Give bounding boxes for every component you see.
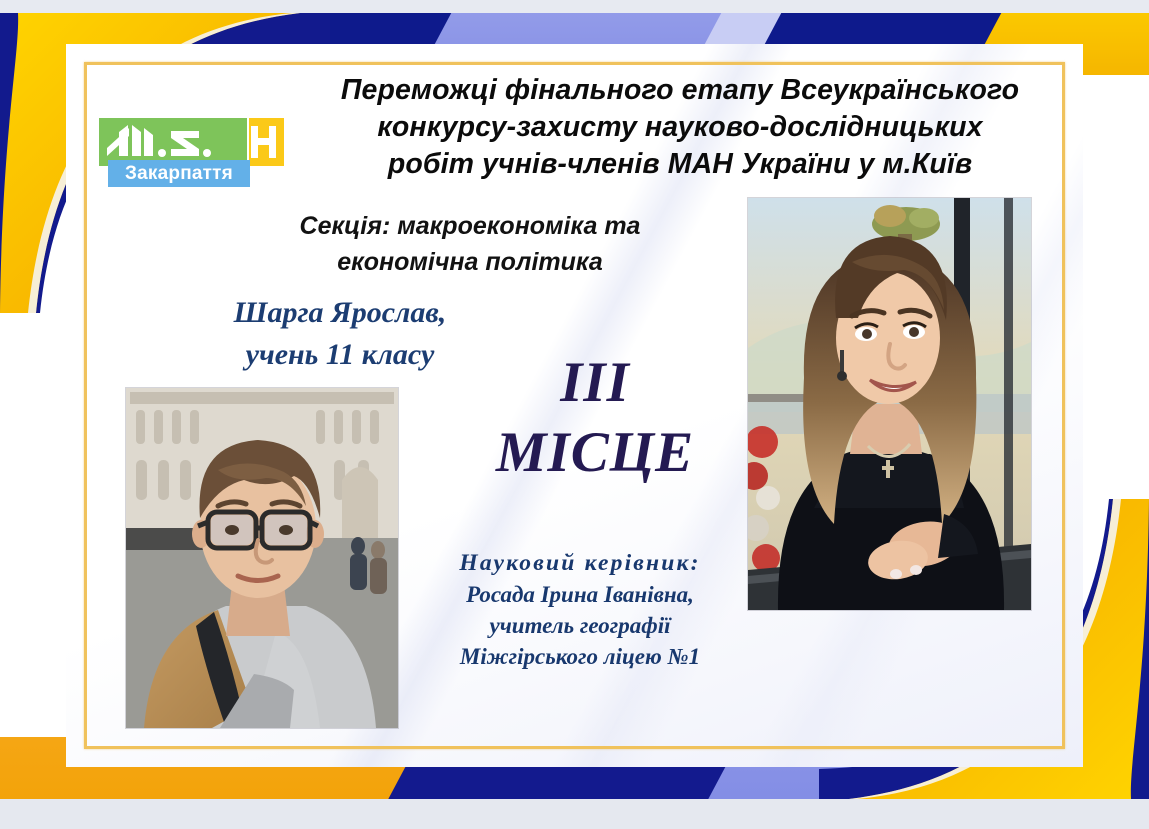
supervisor-photo xyxy=(748,198,1031,610)
place-badge: III МІСЦЕ xyxy=(455,348,735,488)
headline-line-3: робіт учнів-членів МАН України у м.Київ xyxy=(250,146,1110,183)
supervisor-name: Росада Ірина Іванівна, xyxy=(390,579,770,610)
supervisor-role: учитель географії xyxy=(390,610,770,641)
headline-line-1: Переможці фінального етапу Всеукраїнсько… xyxy=(250,72,1110,109)
top-edge-strip xyxy=(0,0,1149,13)
logo-subtitle: Закарпаття xyxy=(108,160,250,187)
section-line-1: Секція: макроекономіка та xyxy=(215,208,725,244)
section-label: Секція: макроекономіка та економічна пол… xyxy=(215,208,725,280)
place-word: МІСЦЕ xyxy=(455,418,735,488)
poster-content: Закарпаття Переможці фінального етапу Вс… xyxy=(0,0,1149,829)
student-photo xyxy=(126,388,398,728)
supervisor-lead: Науковий керівник: xyxy=(390,548,770,579)
student-name: Шарга Ярослав, xyxy=(150,292,530,334)
section-line-2: економічна політика xyxy=(215,244,725,280)
supervisor-block: Науковий керівник: Росада Ірина Іванівна… xyxy=(390,548,770,672)
poster-slide: Закарпаття Переможці фінального етапу Вс… xyxy=(0,0,1149,829)
place-rank: III xyxy=(455,348,735,418)
headline-line-2: конкурсу-захисту науково-дослідницьких xyxy=(250,109,1110,146)
supervisor-school: Міжгірського ліцею №1 xyxy=(390,641,770,672)
page-title: Переможці фінального етапу Всеукраїнсько… xyxy=(250,72,1110,183)
bottom-edge-strip xyxy=(0,799,1149,829)
